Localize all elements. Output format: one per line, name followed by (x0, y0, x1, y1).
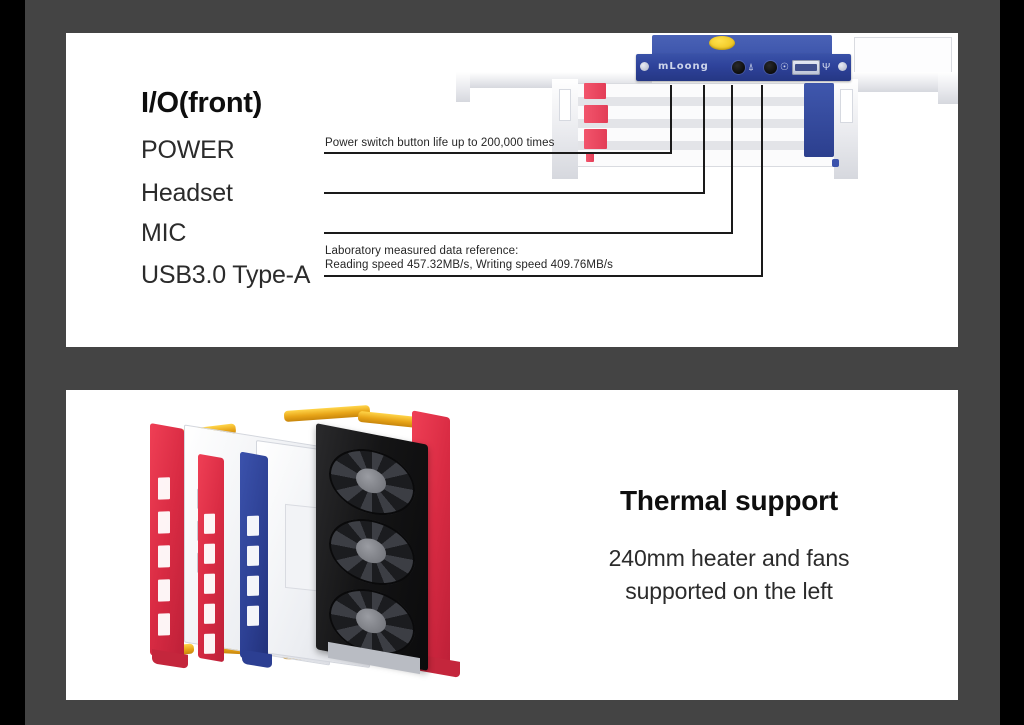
vent-slot (158, 511, 170, 533)
screenshot-root: mLoong ⍋ ☉ Ψ I/O(front) POWER Headset MI… (0, 0, 1024, 725)
spec-label-power: POWER (141, 136, 234, 165)
spec-label-usb: USB3.0 Type-A (141, 261, 310, 290)
headset-jack[interactable] (732, 61, 745, 74)
vent-slot (158, 579, 170, 601)
spec-label-headset: Headset (141, 179, 233, 208)
red-fin-2 (584, 105, 608, 123)
note-power-switch-life: Power switch button life up to 200,000 t… (325, 136, 554, 150)
chassis-right-strut-cutout (840, 89, 853, 123)
red-fin-1 (584, 83, 606, 99)
vent-slot (204, 574, 215, 594)
microphone-icon: ☉ (780, 63, 789, 73)
power-button[interactable] (709, 36, 735, 50)
blue-side-panel (240, 452, 268, 663)
vent-slot (158, 545, 170, 567)
vent-slot (204, 514, 215, 534)
leader-line-power-vertical (670, 85, 672, 154)
leader-line-headset-horizontal (324, 192, 705, 194)
radiator-fan-assembly (316, 423, 428, 671)
vent-slot (204, 544, 215, 564)
fan-hub-icon (356, 536, 386, 566)
blue-foot-nub (832, 159, 839, 167)
headphone-icon: ⍋ (748, 63, 754, 73)
vent-slot (158, 613, 170, 635)
vent-slot (247, 606, 259, 626)
fan-hub-icon (356, 606, 386, 636)
vent-slot (247, 516, 259, 536)
mic-jack[interactable] (764, 61, 777, 74)
thermal-support-card: Thermal support 240mm heater and fans su… (66, 390, 958, 700)
leader-line-power-horizontal (324, 152, 672, 154)
spec-label-mic: MIC (141, 219, 186, 248)
chassis-top-bracket (854, 37, 952, 73)
note-usb-speed-reference: Laboratory measured data reference: Read… (325, 244, 613, 272)
vent-slot (204, 634, 215, 654)
vent-slot (158, 477, 170, 499)
gold-rod-top-right (358, 411, 421, 428)
thermal-support-subtitle: 240mm heater and fans supported on the l… (519, 542, 939, 608)
vent-slot (204, 604, 215, 624)
leader-line-mic-vertical (731, 85, 733, 234)
front-io-bar: mLoong ⍋ ☉ Ψ (636, 54, 851, 81)
usb-trident-icon: Ψ (822, 63, 830, 73)
chassis-right-arm-tip (938, 72, 958, 104)
fan-top (329, 442, 415, 523)
leader-line-mic-horizontal (324, 232, 733, 234)
red-side-panel-inner (198, 454, 224, 663)
usb3-type-a-port[interactable] (792, 60, 820, 75)
thermal-product-photo (136, 400, 526, 690)
io-screw-left-icon (640, 62, 649, 71)
brand-logo: mLoong (658, 61, 709, 72)
fan-hub-icon (356, 466, 386, 496)
red-fin-3 (584, 129, 607, 149)
io-front-panel-card: mLoong ⍋ ☉ Ψ I/O(front) POWER Headset MI… (66, 33, 958, 347)
red-side-panel-left (150, 423, 184, 661)
blue-side-panel (804, 83, 834, 157)
front-io-product-photo: mLoong ⍋ ☉ Ψ (456, 33, 958, 223)
vent-slot (247, 546, 259, 566)
fan-middle (329, 512, 415, 593)
thermal-support-title: Thermal support (519, 485, 939, 517)
leader-line-headset-vertical (703, 85, 705, 194)
red-fin-4 (586, 153, 594, 162)
chassis-left-arm-tip (456, 72, 470, 102)
leader-line-usb-horizontal (324, 275, 763, 277)
page-title: I/O(front) (141, 87, 262, 120)
leader-line-usb-vertical (761, 85, 763, 277)
io-screw-right-icon (838, 62, 847, 71)
chassis-left-strut-cutout (559, 89, 571, 121)
vent-slot (247, 576, 259, 596)
